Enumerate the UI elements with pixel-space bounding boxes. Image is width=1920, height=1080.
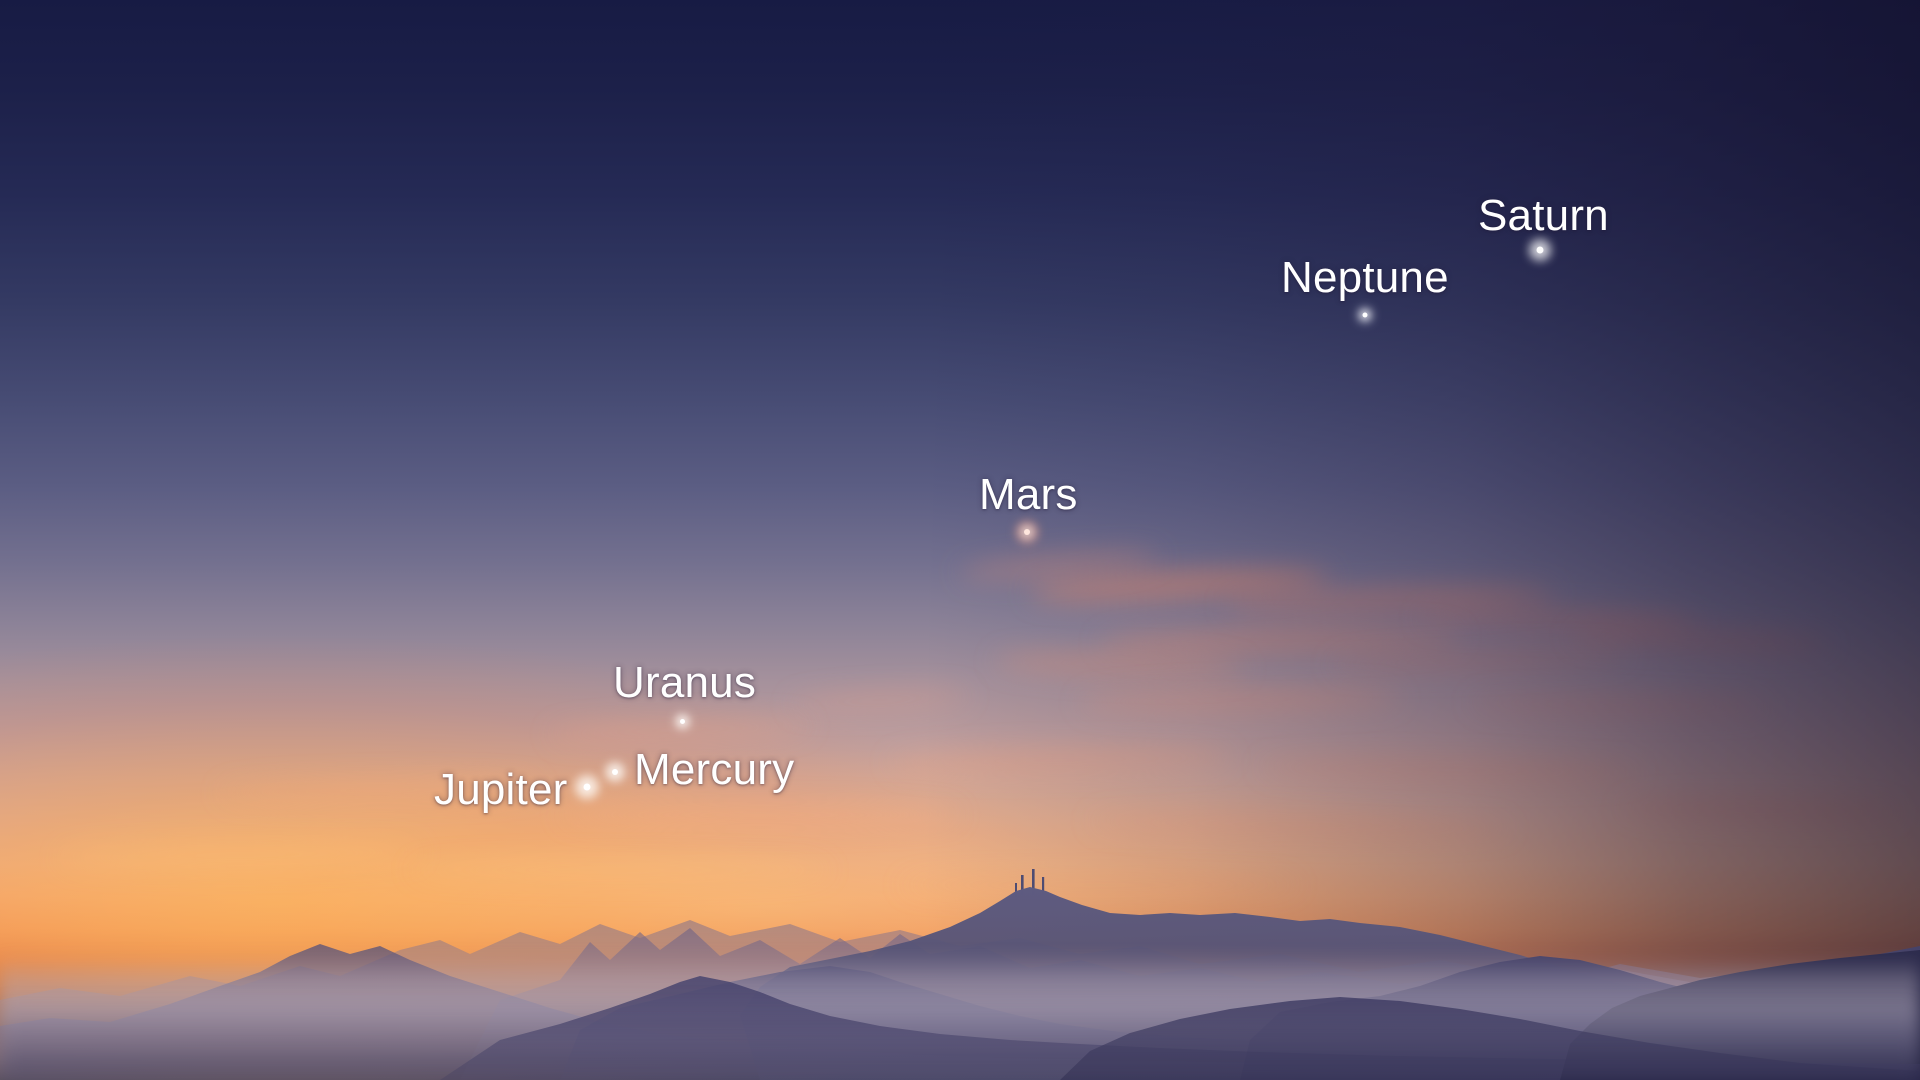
planet-label-neptune[interactable]: Neptune	[1281, 253, 1449, 303]
star-point-icon	[1537, 247, 1544, 254]
planet-label-mercury[interactable]: Mercury	[634, 745, 794, 795]
sky-photograph-scene: SaturnNeptuneMarsUranusMercuryJupiter	[0, 0, 1920, 1080]
star-glow-icon	[605, 762, 625, 782]
planet-label-saturn[interactable]: Saturn	[1478, 191, 1609, 241]
planet-label-mars[interactable]: Mars	[979, 470, 1078, 520]
planet-label-uranus[interactable]: Uranus	[613, 658, 756, 708]
star-point-icon	[1363, 313, 1368, 318]
planet-marker-mars[interactable]	[1016, 521, 1038, 543]
planet-marker-uranus[interactable]	[674, 713, 691, 730]
star-glow-icon	[1357, 307, 1373, 323]
star-point-icon	[680, 719, 685, 724]
star-glow-icon	[674, 713, 691, 730]
star-glow-icon	[575, 775, 599, 799]
planet-marker-saturn[interactable]	[1529, 239, 1551, 261]
star-point-icon	[612, 769, 618, 775]
star-glow-icon	[1016, 521, 1038, 543]
star-glow-icon	[1529, 239, 1551, 261]
planet-annotation-layer: SaturnNeptuneMarsUranusMercuryJupiter	[0, 0, 1920, 1080]
planet-label-jupiter[interactable]: Jupiter	[434, 765, 567, 815]
planet-marker-jupiter[interactable]	[575, 775, 599, 799]
planet-marker-neptune[interactable]	[1357, 307, 1373, 323]
planet-marker-mercury[interactable]	[605, 762, 625, 782]
star-point-icon	[1024, 529, 1030, 535]
star-point-icon	[584, 784, 591, 791]
